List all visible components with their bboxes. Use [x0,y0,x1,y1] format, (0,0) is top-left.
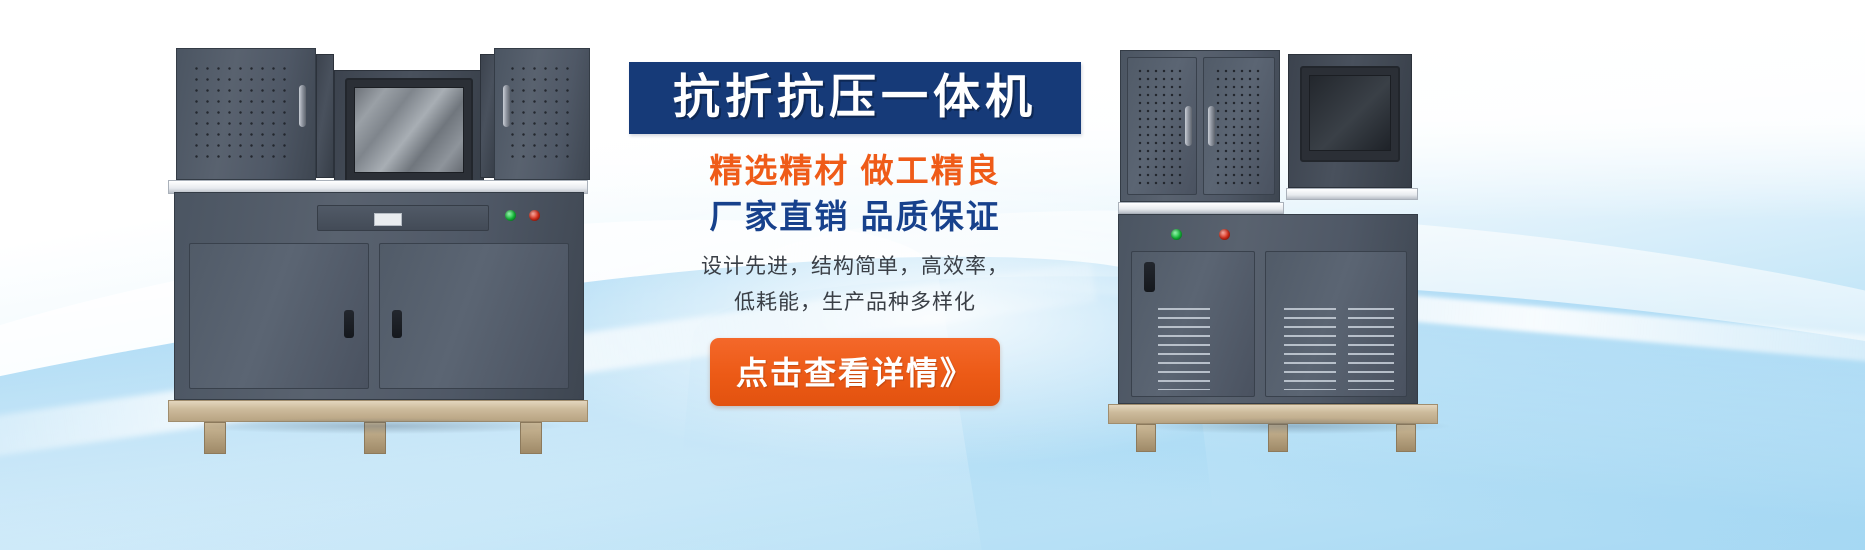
perforated-panel-icon [191,63,291,163]
left-machine-upper-left-cabinet [176,48,316,180]
left-machine-control-drawer [317,205,489,231]
left-machine-shadow [193,418,563,434]
right-machine-upper-cabinet [1120,50,1280,202]
right-machine-monitor-frame [1300,66,1400,162]
cabinet-handle [299,85,306,127]
description-line-1: 设计先进，结构简单，高效率， [620,250,1090,284]
headline-blue: 厂家直销 品质保证 [620,196,1090,237]
view-details-button[interactable]: 点击查看详情》 [710,338,1000,406]
marketing-copy-block: 抗折抗压一体机 精选精材 做工精良 厂家直销 品质保证 设计先进，结构简单，高效… [620,62,1090,406]
right-machine-counter-strip [1118,202,1284,214]
perforated-panel-icon [1214,67,1264,185]
product-image-left [168,36,588,428]
door-handle [1144,262,1155,292]
cabinet-handle [1208,106,1215,146]
headline-orange: 精选精材 做工精良 [620,150,1090,191]
view-details-button-label: 点击查看详情》 [736,355,974,391]
left-machine-body [174,192,584,400]
cabinet-handle [1185,106,1192,146]
promotional-banner: 抗折抗压一体机 精选精材 做工精良 厂家直销 品质保证 设计先进，结构简单，高效… [0,0,1865,550]
red-indicator-light [529,210,540,221]
perforated-panel-icon [1136,67,1186,185]
left-machine-monitor-screen [354,87,464,173]
right-machine-upper-door-right [1203,57,1275,195]
title-banner: 抗折抗压一体机 [629,62,1081,134]
left-machine-upper-right-cabinet [494,48,590,180]
right-machine-upper-door-left [1127,57,1197,195]
right-machine-lower-door-right [1265,251,1407,397]
ventilation-louvers-icon [1284,308,1336,390]
right-machine-body [1118,214,1418,404]
cabinet-handle [503,85,510,127]
right-machine-shadow [1139,418,1449,434]
door-handle [344,310,354,338]
left-machine-door-right [379,243,569,389]
product-image-right [1118,42,1470,428]
right-machine-monitor-screen [1309,75,1391,151]
description-line-2: 低耗能，生产品种多样化 [620,286,1090,320]
left-machine-monitor-frame [345,78,473,184]
perforated-panel-icon [507,63,575,163]
page-title: 抗折抗压一体机 [645,73,1065,121]
drawer-label-plate [374,213,402,226]
ventilation-louvers-icon [1348,308,1394,390]
right-machine-lower-door-left [1131,251,1255,397]
right-machine-counter-strip-2 [1286,188,1418,200]
ventilation-louvers-icon [1158,308,1210,390]
left-machine-door-left [189,243,369,389]
left-machine-upper-left-cabinet-side [316,54,334,178]
red-indicator-light [1219,229,1230,240]
door-handle [392,310,402,338]
green-indicator-light [505,210,516,221]
green-indicator-light [1171,229,1182,240]
